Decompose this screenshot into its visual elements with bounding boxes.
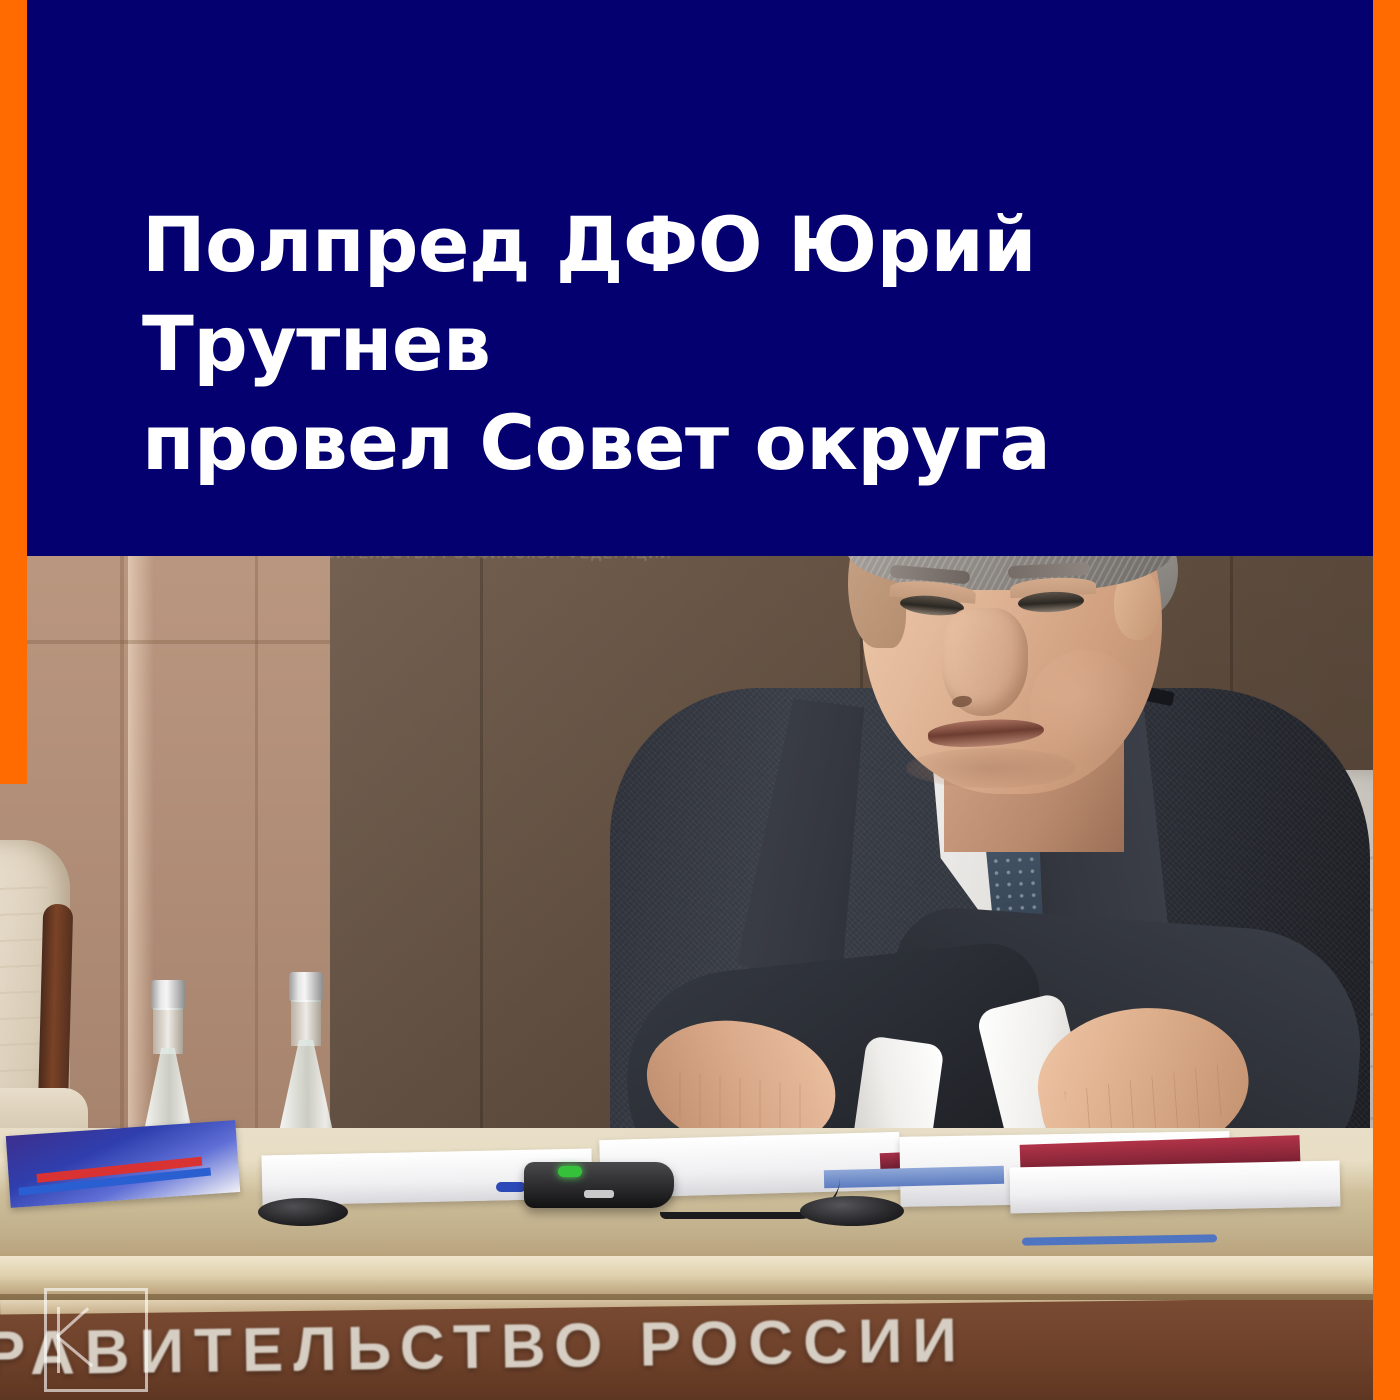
microphone-led-indicator [558,1166,582,1177]
microphone-button [584,1190,614,1198]
microphone-base [258,1198,348,1226]
headline-banner: Полпред ДФО Юрий Трутнев провел Совет ок… [27,0,1373,556]
bottle-neck [153,1008,183,1054]
bottle-cap [151,980,185,1010]
bottle-cap [289,972,323,1002]
wall-plaque: РАВИТЕЛЬСТВО РОССИИ [0,1300,1400,1400]
cheek-highlight [1030,650,1140,760]
watermark-logo [44,1288,148,1392]
conference-microphone-console [524,1162,674,1208]
bottle-neck [291,1000,321,1046]
paper-stack [1010,1161,1341,1214]
page-title: Полпред ДФО Юрий Трутнев провел Совет ок… [142,196,1322,492]
chin-shadow [906,748,1076,788]
pen-blue [496,1182,526,1192]
accent-bar-left [0,0,27,784]
social-media-card: СИТУАЦИОННЫЙ ЦЕНТР ПРАВИТЕЛЬСТВА РОССИЙС… [0,0,1400,1400]
microphone-base [800,1196,904,1226]
accent-bar-right [1373,0,1400,1400]
